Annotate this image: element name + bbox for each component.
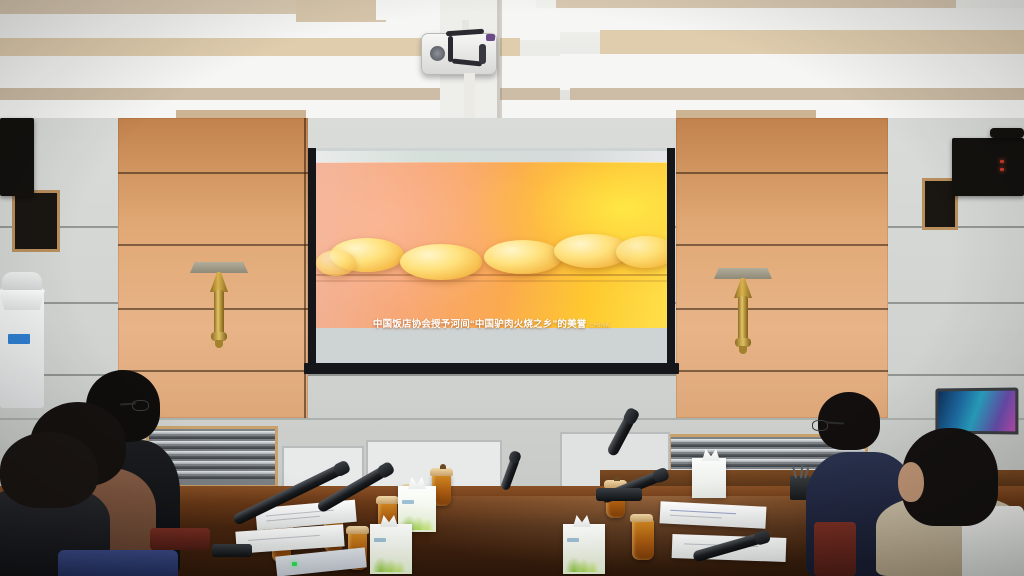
tissue-box-graphic: [373, 548, 405, 572]
dispenser-label: [8, 334, 30, 344]
chair-back: [150, 528, 210, 550]
slide-caption-sub: CHINA: [590, 323, 611, 329]
projector-connector: [486, 34, 495, 41]
water-dispenser[interactable]: [0, 288, 44, 408]
laptop-screen: [938, 391, 1015, 432]
chair-back: [814, 522, 856, 576]
ceiling: [0, 0, 1024, 122]
projection-screen: 中国饭店协会授予河间“中国驴肉火烧之乡”的美誉CHINA: [308, 148, 675, 374]
tissue-box-logo: [402, 500, 414, 504]
screen-surface: 中国饭店协会授予河间“中国驴肉火烧之乡”的美誉CHINA: [316, 148, 667, 364]
tea-glass[interactable]: [632, 520, 654, 560]
slide-caption-text: 中国饭店协会授予河间“中国驴肉火烧之乡”的美誉: [373, 319, 587, 330]
tissue-box[interactable]: [692, 458, 726, 498]
speaker-status-led: [1000, 160, 1004, 163]
tissue-box-graphic: [566, 548, 598, 572]
screen-glare: [316, 151, 667, 163]
screen-edge-right: [667, 148, 675, 366]
slide-image: [316, 162, 667, 328]
speaker-status-led: [1000, 168, 1004, 171]
projector: [421, 33, 497, 75]
sconce-shade: [190, 262, 248, 273]
tissue-box-logo: [567, 538, 579, 542]
wall-speaker-left: [0, 118, 34, 196]
screen-bottom-bar: [304, 363, 679, 374]
projector-port: [479, 44, 486, 64]
conference-room-scene: 中国饭店协会授予河间“中国驴肉火烧之乡”的美誉CHINA: [0, 0, 1024, 576]
sconce-tip: [739, 346, 747, 354]
speaker-bracket-right: [990, 128, 1024, 138]
wall-speaker-right: [952, 138, 1024, 196]
dispenser-basin: [0, 290, 48, 310]
microphone-base: [596, 488, 642, 501]
tea-glass-knob: [614, 476, 620, 481]
tea-glass-lid: [376, 496, 399, 504]
wall-panel-right: [676, 118, 888, 418]
slide-caption: 中国饭店协会授予河间“中国驴肉火烧之乡”的美誉CHINA: [316, 316, 667, 330]
screen-edge-left: [308, 148, 316, 366]
tea-glass-lid: [430, 468, 453, 476]
tissue-box-logo: [374, 538, 386, 542]
dispenser-bottle: [2, 272, 42, 292]
chair-back: [58, 550, 178, 576]
tissue-box[interactable]: [370, 524, 412, 574]
tissue-box[interactable]: [563, 524, 605, 574]
tea-glass-lid: [630, 514, 653, 522]
sconce-tip: [215, 340, 223, 348]
tea-glass-lid: [346, 526, 369, 534]
projector-cable: [452, 58, 482, 66]
microphone-base: [212, 544, 252, 557]
sconce-shade: [714, 268, 772, 279]
wall-niche-left: [12, 190, 60, 252]
projector-lens: [430, 46, 445, 61]
tea-glass-knob: [440, 464, 446, 469]
microphone-led: [292, 562, 297, 566]
